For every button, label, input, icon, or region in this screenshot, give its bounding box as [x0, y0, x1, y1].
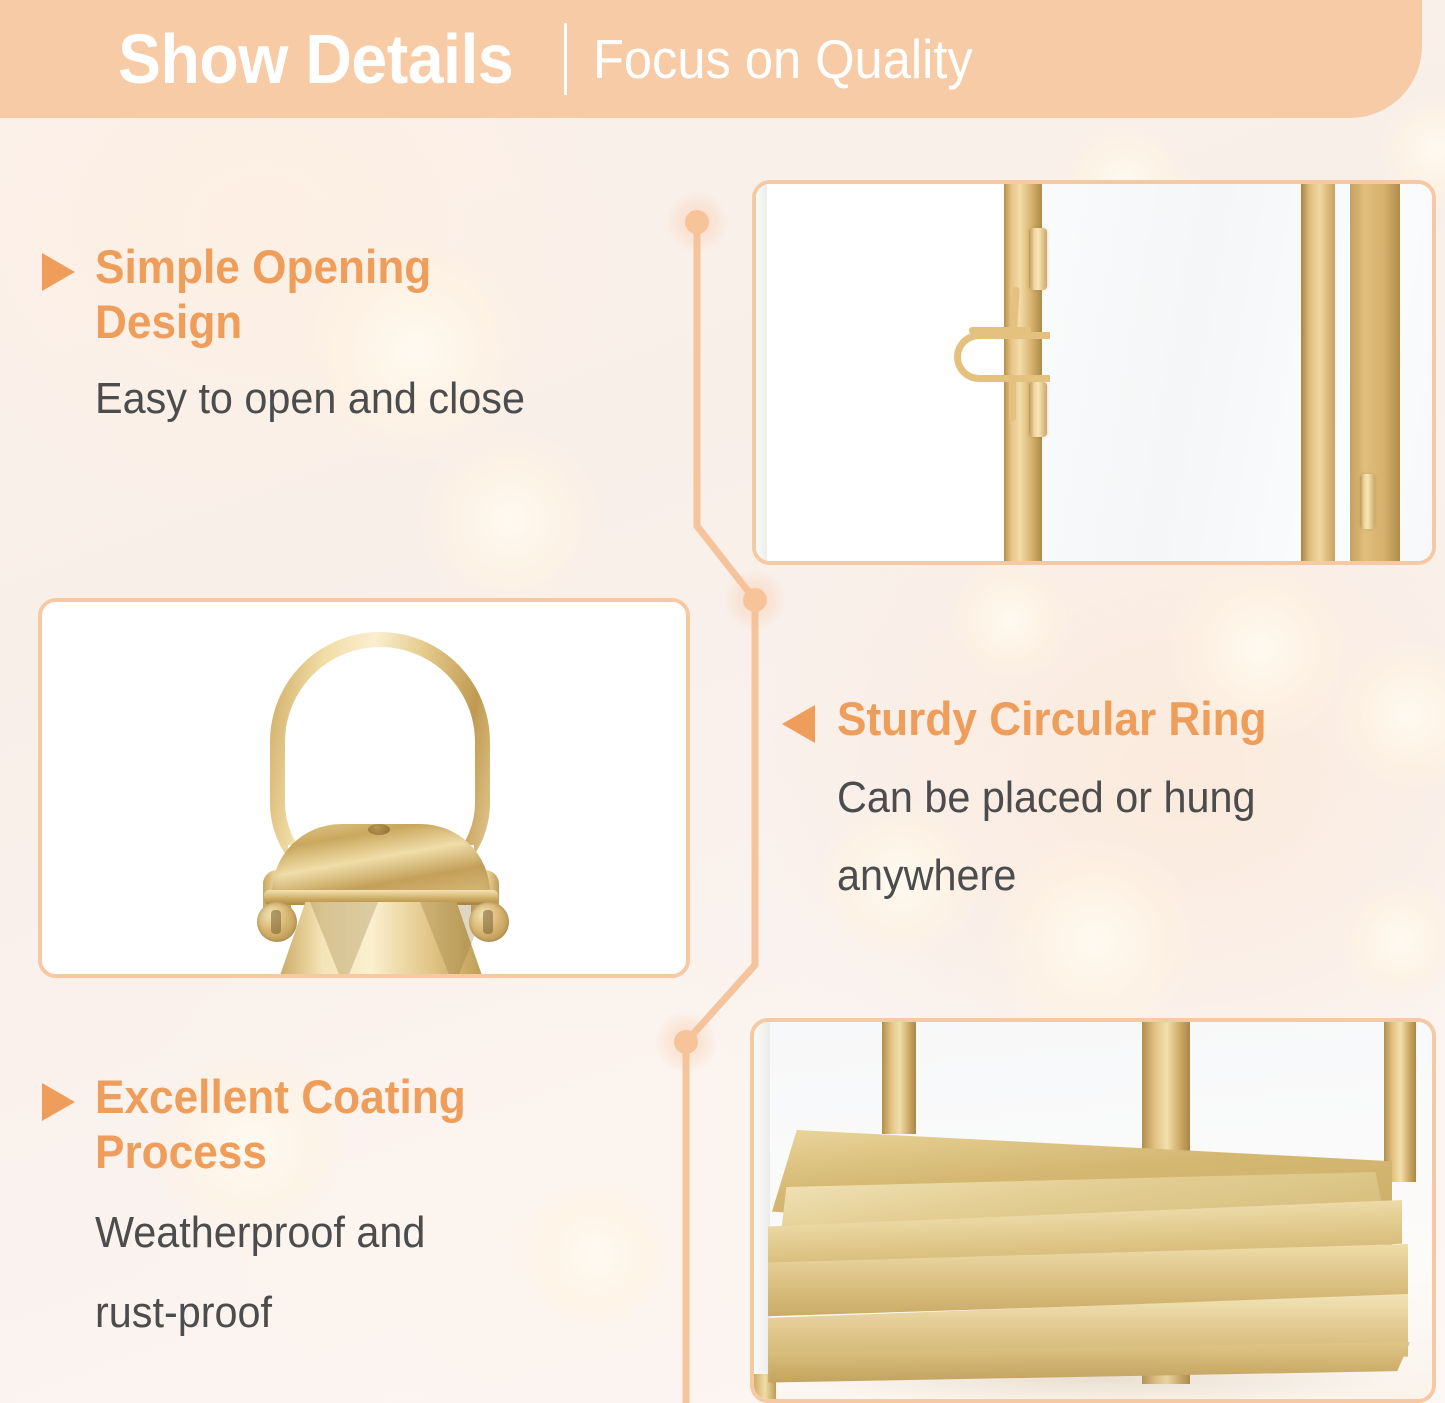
cap-finial — [368, 824, 390, 835]
bokeh-light — [420, 430, 600, 610]
gold-frame-post-right — [1301, 184, 1335, 561]
triangle-right-icon — [42, 1083, 75, 1121]
feature-2-subtitle-line2: anywhere — [837, 849, 1378, 903]
feature-2-subtitle-line1: Can be placed or hung — [837, 771, 1378, 825]
feature-sturdy-circular-ring: Sturdy Circular Ring Can be placed or hu… — [782, 692, 1412, 902]
latch-arm-lower — [1009, 379, 1016, 421]
feature-3-title-line1: Excellent Coating — [95, 1070, 466, 1125]
hinge-upper — [1029, 228, 1047, 290]
glass-edge — [754, 1022, 770, 1374]
feature-excellent-coating-process: Excellent Coating Process Weatherproof a… — [42, 1070, 662, 1339]
feature-1-heading: Simple Opening Design — [42, 240, 682, 350]
photo-lantern-handle-ring — [38, 598, 690, 978]
connector-node-bottom — [674, 1030, 698, 1054]
photo3-scene — [754, 1022, 1432, 1399]
feature-1-title-line2: Design — [95, 295, 431, 350]
base-facet — [310, 902, 378, 978]
photo-lantern-door-latch — [752, 180, 1436, 565]
photo2-scene — [42, 602, 686, 974]
feature-3-title-line2: Process — [95, 1125, 466, 1180]
gold-frame-post-far-right — [1350, 184, 1400, 561]
drop-shadow — [794, 1352, 1394, 1403]
connector-node-top — [685, 210, 709, 234]
photo1-scene — [756, 184, 1432, 561]
hinge-lower — [1029, 382, 1047, 437]
connector-node-glow — [724, 569, 786, 631]
photo-lantern-base-coating — [750, 1018, 1436, 1403]
title-divider — [564, 23, 567, 95]
feature-3-subtitle-line2: rust-proof — [95, 1286, 628, 1340]
feature-2-subtitle-wrap: Can be placed or hung anywhere — [782, 771, 1412, 902]
gold-post-right — [1384, 1022, 1416, 1182]
triangle-right-icon — [42, 253, 75, 291]
hinge-side — [1360, 474, 1375, 529]
feature-2-heading: Sturdy Circular Ring — [782, 692, 1412, 747]
feature-3-subtitle-wrap: Weatherproof and rust-proof — [42, 1206, 662, 1339]
feature-3-heading: Excellent Coating Process — [42, 1070, 662, 1180]
mount-screw-right — [469, 902, 509, 942]
page-title: Show Details — [118, 24, 513, 94]
infographic-page: Show Details Focus on Quality — [0, 0, 1445, 1403]
feature-2-title-line1: Sturdy Circular Ring — [837, 692, 1267, 747]
connector-node-glow — [655, 1011, 717, 1073]
feature-1-title-line1: Simple Opening — [95, 240, 431, 295]
header-banner: Show Details Focus on Quality — [0, 0, 1422, 118]
page-subtitle: Focus on Quality — [593, 32, 973, 87]
triangle-left-icon — [782, 705, 815, 743]
feature-simple-opening-design: Simple Opening Design Easy to open and c… — [42, 240, 682, 426]
glass-edge-highlight — [756, 184, 767, 561]
feature-1-subtitle: Easy to open and close — [95, 372, 647, 426]
latch-loop — [954, 332, 1050, 382]
bokeh-light — [950, 560, 1070, 680]
gold-post-left — [882, 1022, 916, 1134]
feature-3-title-wrap: Excellent Coating Process — [95, 1070, 489, 1180]
connector-node-middle — [743, 588, 767, 612]
feature-3-subtitle-line1: Weatherproof and — [95, 1206, 628, 1260]
mount-screw-left — [257, 902, 297, 942]
feature-1-title-wrap: Simple Opening Design — [95, 240, 453, 350]
feature-2-title-wrap: Sturdy Circular Ring — [837, 692, 1294, 747]
